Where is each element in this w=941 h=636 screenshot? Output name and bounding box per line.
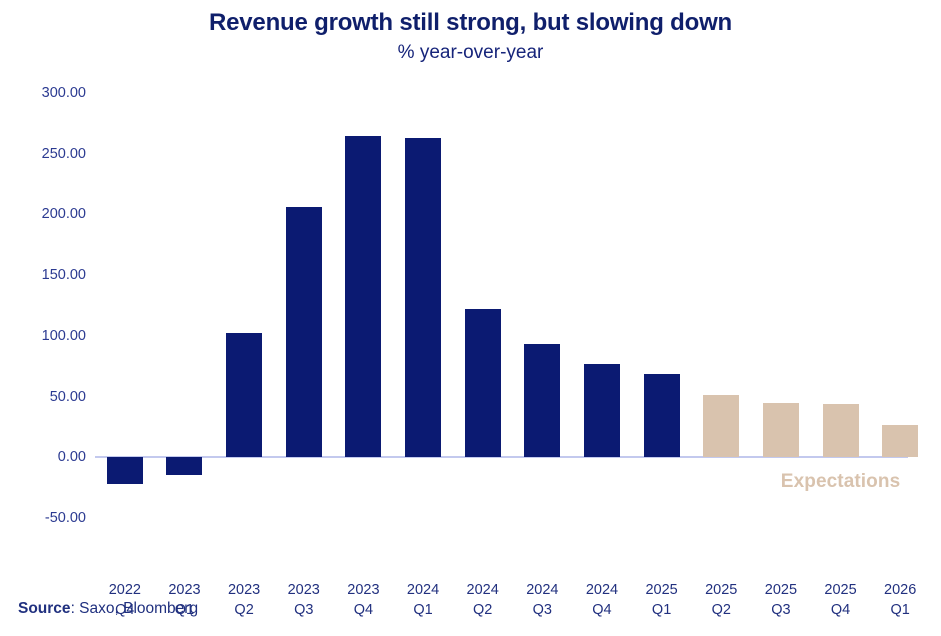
x-tick-year: 2023 <box>334 580 394 600</box>
x-axis-tick-label: 2023Q4 <box>334 580 394 620</box>
plot-area: Expectations <box>95 80 930 580</box>
x-axis-tick-label: 2025Q1 <box>632 580 692 620</box>
x-axis-tick-label: 2026Q1 <box>870 580 930 620</box>
x-tick-quarter: Q3 <box>274 600 334 620</box>
x-tick-year: 2025 <box>632 580 692 600</box>
y-axis-tick-label: 50.00 <box>0 389 86 405</box>
x-tick-year: 2024 <box>453 580 513 600</box>
x-axis-tick-label: 2024Q1 <box>393 580 453 620</box>
x-axis-tick-label: 2023Q3 <box>274 580 334 620</box>
bar <box>107 457 143 484</box>
x-tick-quarter: Q4 <box>572 600 632 620</box>
x-axis-tick-label: 2024Q2 <box>453 580 513 620</box>
x-tick-quarter: Q2 <box>453 600 513 620</box>
bar <box>226 333 262 457</box>
bars-layer <box>95 80 930 580</box>
x-tick-quarter: Q4 <box>811 600 871 620</box>
x-tick-year: 2023 <box>155 580 215 600</box>
y-axis-tick-label: -50.00 <box>0 510 86 526</box>
source-footer: Source: Saxo, Bloomberg <box>18 600 198 618</box>
x-axis-tick-label: 2025Q4 <box>811 580 871 620</box>
x-tick-quarter: Q3 <box>751 600 811 620</box>
x-tick-quarter: Q2 <box>691 600 751 620</box>
expectations-annotation: Expectations <box>781 471 900 493</box>
x-tick-year: 2024 <box>572 580 632 600</box>
bar <box>166 457 202 475</box>
y-axis: 300.00250.00200.00150.00100.0050.000.00-… <box>0 80 86 580</box>
chart-subtitle: % year-over-year <box>0 40 941 66</box>
x-tick-year: 2023 <box>214 580 274 600</box>
x-tick-quarter: Q1 <box>632 600 692 620</box>
x-axis-tick-label: 2024Q4 <box>572 580 632 620</box>
y-axis-tick-label: 150.00 <box>0 267 86 283</box>
chart-title-block: Revenue growth still strong, but slowing… <box>0 8 941 66</box>
x-tick-quarter: Q4 <box>334 600 394 620</box>
bar <box>644 374 680 458</box>
x-tick-quarter: Q3 <box>513 600 573 620</box>
x-tick-year: 2023 <box>274 580 334 600</box>
x-axis-tick-label: 2024Q3 <box>513 580 573 620</box>
x-tick-year: 2024 <box>513 580 573 600</box>
source-label: Source <box>18 600 71 617</box>
bar <box>524 344 560 457</box>
x-tick-year: 2025 <box>691 580 751 600</box>
page-title: Revenue growth still strong, but slowing… <box>0 8 941 38</box>
x-tick-year: 2025 <box>751 580 811 600</box>
plot-frame: 300.00250.00200.00150.00100.0050.000.00-… <box>0 80 941 580</box>
x-tick-year: 2026 <box>870 580 930 600</box>
y-axis-tick-label: 300.00 <box>0 85 86 101</box>
bar <box>345 136 381 458</box>
x-tick-year: 2024 <box>393 580 453 600</box>
bar <box>882 425 918 458</box>
x-tick-quarter: Q1 <box>870 600 930 620</box>
bar <box>465 309 501 457</box>
chart-container: Revenue growth still strong, but slowing… <box>0 0 941 636</box>
y-axis-tick-label: 250.00 <box>0 146 86 162</box>
x-tick-year: 2022 <box>95 580 155 600</box>
source-text: : Saxo, Bloomberg <box>71 600 199 617</box>
bar <box>286 207 322 457</box>
x-tick-quarter: Q2 <box>214 600 274 620</box>
y-axis-tick-label: 200.00 <box>0 206 86 222</box>
x-axis-tick-label: 2025Q2 <box>691 580 751 620</box>
bar <box>405 138 441 457</box>
y-axis-tick-label: 100.00 <box>0 328 86 344</box>
y-axis-tick-label: 0.00 <box>0 449 86 465</box>
x-tick-quarter: Q1 <box>393 600 453 620</box>
x-axis-tick-label: 2025Q3 <box>751 580 811 620</box>
x-axis: 2022Q42023Q12023Q22023Q32023Q42024Q12024… <box>95 580 930 636</box>
x-axis-tick-label: 2023Q2 <box>214 580 274 620</box>
bar <box>763 403 799 458</box>
bar <box>584 364 620 458</box>
x-tick-year: 2025 <box>811 580 871 600</box>
bar <box>703 395 739 457</box>
bar <box>823 404 859 457</box>
